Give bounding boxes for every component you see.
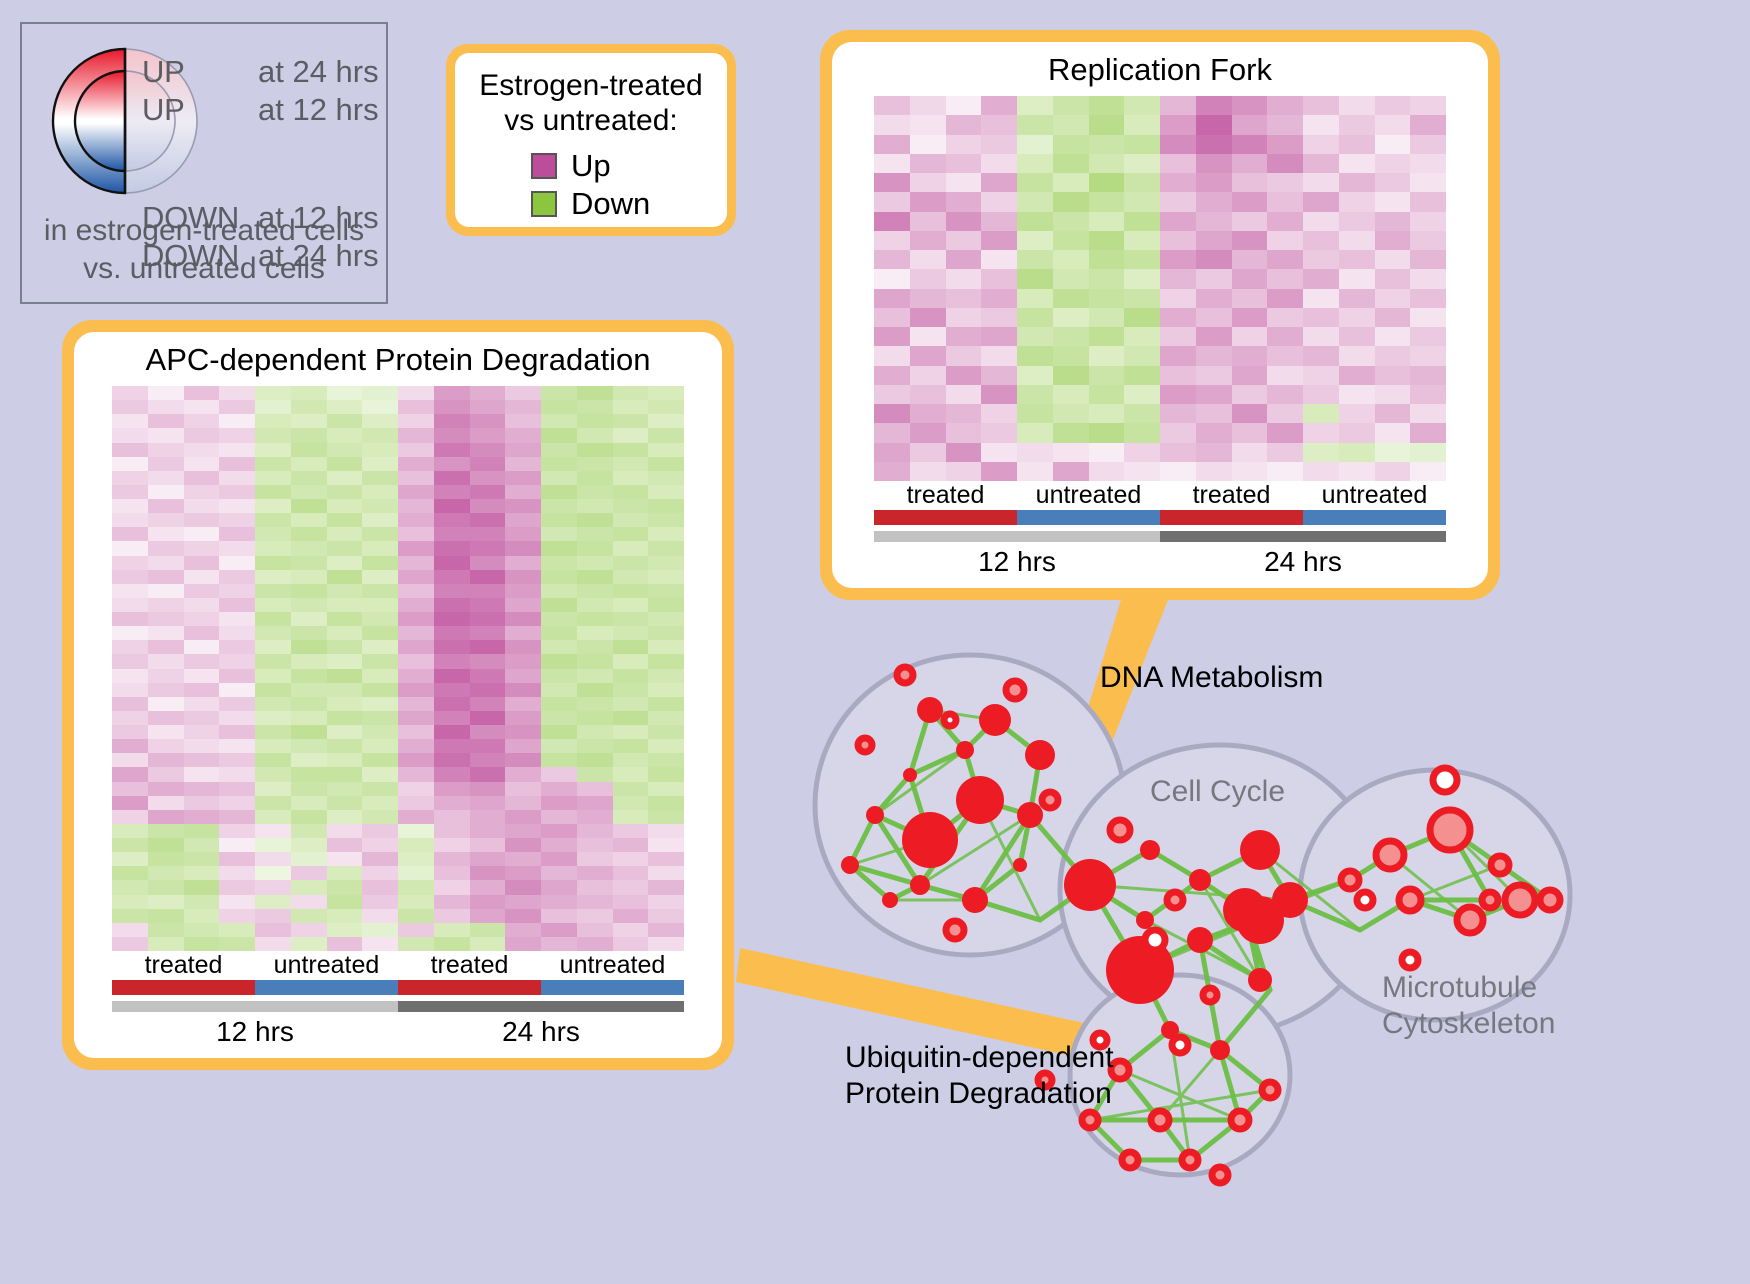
heatmap-cell bbox=[1232, 404, 1268, 423]
heatmap-cell bbox=[1375, 366, 1411, 385]
heatmap-cell bbox=[434, 414, 470, 428]
heatmap-cell bbox=[1410, 96, 1446, 115]
heatmap-cell bbox=[1089, 423, 1125, 442]
heatmap-cell bbox=[946, 404, 982, 423]
heatmap-cell bbox=[648, 428, 684, 442]
heatmap-cell bbox=[505, 753, 541, 767]
heatmap-cell bbox=[184, 683, 220, 697]
heatmap-cell bbox=[1232, 462, 1268, 481]
heatmap-cell bbox=[470, 895, 506, 909]
heatmap-cell bbox=[1232, 96, 1268, 115]
heatmap-cell bbox=[577, 541, 613, 555]
legend-title-line-1: Estrogen-treated bbox=[469, 69, 713, 104]
heatmap-cell bbox=[613, 767, 649, 781]
heatmap-cell bbox=[577, 443, 613, 457]
heatmap-cell bbox=[1053, 231, 1089, 250]
heatmap-cell bbox=[1160, 327, 1196, 346]
heatmap-cell bbox=[291, 937, 327, 951]
heatmap-cell bbox=[148, 810, 184, 824]
heatmap-cell bbox=[255, 570, 291, 584]
heatmap-cell bbox=[327, 443, 363, 457]
cluster-label-dna-metabolism: DNA Metabolism bbox=[1100, 660, 1323, 696]
heatmap-cell bbox=[1375, 154, 1411, 173]
group-color-bar-row bbox=[112, 980, 684, 995]
heatmap-cell bbox=[1267, 346, 1303, 365]
heatmap-cell bbox=[255, 485, 291, 499]
heatmap-cell bbox=[219, 640, 255, 654]
heatmap-cell bbox=[148, 669, 184, 683]
heatmap-cell bbox=[1160, 346, 1196, 365]
heatmap-cell bbox=[434, 782, 470, 796]
heatmap-cell bbox=[1089, 115, 1125, 134]
heatmap-cell bbox=[148, 570, 184, 584]
heatmap-cell bbox=[434, 556, 470, 570]
heatmap-cell bbox=[255, 654, 291, 668]
heatmap-cell bbox=[874, 327, 910, 346]
heatmap-cell bbox=[505, 428, 541, 442]
heatmap-cell bbox=[1089, 269, 1125, 288]
heatmap-cell bbox=[1124, 327, 1160, 346]
heatmap-cell bbox=[541, 598, 577, 612]
heatmap-cell bbox=[470, 824, 506, 838]
heatmap-cell bbox=[910, 366, 946, 385]
heatmap-cell bbox=[981, 385, 1017, 404]
heatmap-cell bbox=[613, 386, 649, 400]
heatmap-cell bbox=[874, 250, 910, 269]
heatmap-cell bbox=[219, 909, 255, 923]
key-direction-label: UP bbox=[142, 92, 258, 128]
heatmap-cell bbox=[255, 443, 291, 457]
heatmap-cell bbox=[291, 626, 327, 640]
heatmap-cell bbox=[613, 457, 649, 471]
heatmap-cell bbox=[1267, 212, 1303, 231]
heatmap-cell bbox=[1303, 404, 1339, 423]
heatmap-cell bbox=[1303, 269, 1339, 288]
heatmap-cell bbox=[327, 457, 363, 471]
heatmap-cell bbox=[470, 598, 506, 612]
heatmap-cell bbox=[291, 767, 327, 781]
heatmap-cell bbox=[1017, 250, 1053, 269]
heatmap-cell bbox=[362, 838, 398, 852]
heatmap-cell bbox=[219, 796, 255, 810]
heatmap-cell bbox=[470, 570, 506, 584]
heatmap-cell bbox=[648, 400, 684, 414]
heatmap-cell bbox=[874, 96, 910, 115]
key-time-label: at 24 hrs bbox=[258, 54, 379, 90]
heatmap-cell bbox=[255, 400, 291, 414]
heatmap-cell bbox=[541, 654, 577, 668]
heatmap-cell bbox=[327, 937, 363, 951]
heatmap-cell bbox=[1232, 250, 1268, 269]
color-key-row-up-12: UP at 12 hrs bbox=[142, 92, 379, 130]
heatmap-cell bbox=[577, 612, 613, 626]
heatmap-cell bbox=[398, 527, 434, 541]
heatmap-cell bbox=[1124, 346, 1160, 365]
heatmap-cell bbox=[291, 824, 327, 838]
heatmap-cell bbox=[1124, 250, 1160, 269]
heatmap-cell bbox=[434, 428, 470, 442]
heatmap-cell bbox=[219, 824, 255, 838]
heatmap-cell bbox=[148, 598, 184, 612]
heatmap-cell bbox=[434, 739, 470, 753]
heatmap-cell bbox=[946, 385, 982, 404]
heatmap-cell bbox=[910, 404, 946, 423]
heatmap-cell bbox=[362, 640, 398, 654]
heatmap-cell bbox=[112, 541, 148, 555]
heatmap-cell bbox=[1089, 173, 1125, 192]
heatmap-cell bbox=[981, 308, 1017, 327]
heatmap-cell bbox=[981, 462, 1017, 481]
heatmap-cell bbox=[291, 923, 327, 937]
heatmap-cell bbox=[1089, 289, 1125, 308]
heatmap-cell bbox=[577, 866, 613, 880]
heatmap-cell bbox=[148, 471, 184, 485]
heatmap-cell bbox=[291, 414, 327, 428]
heatmap-cell bbox=[1267, 231, 1303, 250]
heatmap-cell bbox=[291, 443, 327, 457]
heatmap-cell bbox=[291, 485, 327, 499]
heatmap-cell bbox=[184, 909, 220, 923]
heatmap-cell bbox=[1267, 96, 1303, 115]
heatmap-cell bbox=[874, 289, 910, 308]
heatmap-cell bbox=[184, 838, 220, 852]
heatmap-cell bbox=[1410, 366, 1446, 385]
heatmap-cell bbox=[577, 711, 613, 725]
heatmap-cell bbox=[184, 612, 220, 626]
heatmap-cell bbox=[1267, 289, 1303, 308]
heatmap-cell bbox=[1267, 115, 1303, 134]
cluster-label-line: Cytoskeleton bbox=[1382, 1006, 1555, 1042]
heatmap-cell bbox=[434, 697, 470, 711]
heatmap-cell bbox=[184, 725, 220, 739]
heatmap-cell bbox=[398, 640, 434, 654]
heatmap-cell bbox=[148, 880, 184, 894]
heatmap-cell bbox=[946, 231, 982, 250]
heatmap-cell bbox=[362, 414, 398, 428]
heatmap-cell bbox=[946, 346, 982, 365]
heatmap-cell bbox=[577, 895, 613, 909]
heatmap-cell bbox=[648, 654, 684, 668]
heatmap-cell bbox=[434, 541, 470, 555]
heatmap-cell bbox=[219, 400, 255, 414]
heatmap-cell bbox=[1232, 192, 1268, 211]
heatmap-cell bbox=[327, 683, 363, 697]
heatmap-cell bbox=[541, 457, 577, 471]
heatmap-cell bbox=[470, 739, 506, 753]
heatmap-cell bbox=[613, 669, 649, 683]
heatmap-cell bbox=[981, 115, 1017, 134]
heatmap-cell bbox=[219, 471, 255, 485]
heatmap-cell bbox=[362, 556, 398, 570]
heatmap-cell bbox=[1089, 154, 1125, 173]
heatmap-cell bbox=[874, 115, 910, 134]
heatmap-cell bbox=[112, 866, 148, 880]
heatmap-cell bbox=[613, 400, 649, 414]
heatmap-cell bbox=[1232, 135, 1268, 154]
heatmap-cell bbox=[648, 626, 684, 640]
heatmap-cell bbox=[648, 697, 684, 711]
heatmap-cell bbox=[1124, 423, 1160, 442]
heatmap-cell bbox=[148, 556, 184, 570]
time-color-bar-row bbox=[112, 995, 684, 1012]
heatmap-cell bbox=[112, 838, 148, 852]
color-key-box: UP at 24 hrs UP at 12 hrs DOWN at 12 hrs… bbox=[20, 22, 388, 304]
heatmap-cell bbox=[1124, 366, 1160, 385]
heatmap-cell bbox=[541, 541, 577, 555]
heatmap-cell bbox=[1053, 115, 1089, 134]
heatmap-cell bbox=[910, 423, 946, 442]
heatmap-cell bbox=[434, 711, 470, 725]
heatmap-cell bbox=[648, 810, 684, 824]
heatmap-cell bbox=[1232, 308, 1268, 327]
heatmap-cell bbox=[434, 683, 470, 697]
heatmap-cell bbox=[434, 499, 470, 513]
heatmap-cell bbox=[1196, 423, 1232, 442]
heatmap-cell bbox=[184, 499, 220, 513]
heatmap-cell bbox=[291, 810, 327, 824]
heatmap-cell bbox=[648, 725, 684, 739]
heatmap-cell bbox=[1410, 327, 1446, 346]
heatmap-cell bbox=[1375, 96, 1411, 115]
heatmap-cell bbox=[1232, 346, 1268, 365]
heatmap-cell bbox=[981, 269, 1017, 288]
heatmap-cell bbox=[362, 895, 398, 909]
heatmap-cell bbox=[1303, 385, 1339, 404]
heatmap-cell bbox=[505, 556, 541, 570]
heatmap-cell bbox=[1267, 173, 1303, 192]
heatmap-cell bbox=[112, 880, 148, 894]
heatmap-cell bbox=[910, 173, 946, 192]
heatmap-cell bbox=[398, 400, 434, 414]
heatmap-cell bbox=[398, 739, 434, 753]
heatmap-cell bbox=[505, 457, 541, 471]
heatmap-cell bbox=[541, 414, 577, 428]
heatmap-cell bbox=[148, 697, 184, 711]
heatmap-cell bbox=[470, 556, 506, 570]
heatmap-cell bbox=[1160, 212, 1196, 231]
heatmap-cell bbox=[1160, 96, 1196, 115]
heatmap-cell bbox=[398, 584, 434, 598]
heatmap-cell bbox=[255, 767, 291, 781]
heatmap-cell bbox=[255, 937, 291, 951]
heatmap-cell bbox=[327, 499, 363, 513]
heatmap-cell bbox=[219, 584, 255, 598]
heatmap-cell bbox=[648, 866, 684, 880]
heatmap-cell bbox=[505, 654, 541, 668]
heatmap-cell bbox=[434, 895, 470, 909]
heatmap-cell bbox=[613, 556, 649, 570]
heatmap-cell bbox=[434, 386, 470, 400]
heatmap-cell bbox=[874, 423, 910, 442]
heatmap-cell bbox=[541, 443, 577, 457]
heatmap-cell bbox=[184, 866, 220, 880]
heatmap-cell bbox=[255, 838, 291, 852]
heatmap-cell bbox=[112, 909, 148, 923]
heatmap-cell bbox=[1267, 404, 1303, 423]
heatmap-cell bbox=[327, 697, 363, 711]
heatmap-cell bbox=[398, 443, 434, 457]
heatmap-cell bbox=[255, 782, 291, 796]
heatmap-cell bbox=[1053, 327, 1089, 346]
heatmap-cell bbox=[577, 838, 613, 852]
heatmap-cell bbox=[327, 909, 363, 923]
heatmap-cell bbox=[1196, 192, 1232, 211]
heatmap-cell bbox=[1303, 462, 1339, 481]
heatmap-cell bbox=[1375, 462, 1411, 481]
heatmap-cell bbox=[541, 782, 577, 796]
heatmap-cell bbox=[981, 192, 1017, 211]
heatmap-cell bbox=[648, 598, 684, 612]
heatmap-cell bbox=[148, 513, 184, 527]
heatmap-cell bbox=[1232, 385, 1268, 404]
heatmap-cell bbox=[398, 753, 434, 767]
heatmap-cell bbox=[398, 513, 434, 527]
heatmap-cell bbox=[648, 443, 684, 457]
heatmap-cell bbox=[219, 923, 255, 937]
heatmap-cell bbox=[255, 824, 291, 838]
heatmap-cell bbox=[577, 598, 613, 612]
heatmap-cell bbox=[184, 852, 220, 866]
cluster-label-cell-cycle: Cell Cycle bbox=[1150, 774, 1285, 810]
heatmap-cell bbox=[470, 753, 506, 767]
heatmap-cell bbox=[291, 895, 327, 909]
heatmap-cell bbox=[1089, 327, 1125, 346]
heatmap-cell bbox=[327, 626, 363, 640]
heatmap-cell bbox=[505, 669, 541, 683]
heatmap-cell bbox=[470, 697, 506, 711]
heatmap-cell bbox=[362, 527, 398, 541]
heatmap-cell bbox=[398, 810, 434, 824]
heatmap-cell bbox=[1375, 423, 1411, 442]
heatmap-cell bbox=[946, 366, 982, 385]
heatmap-cell bbox=[434, 810, 470, 824]
heatmap-cell bbox=[470, 541, 506, 555]
heatmap-cell bbox=[470, 810, 506, 824]
heatmap-cell bbox=[577, 485, 613, 499]
heatmap-cell bbox=[541, 824, 577, 838]
heatmap-cell bbox=[1339, 115, 1375, 134]
heatmap-cell bbox=[1124, 135, 1160, 154]
heatmap-cell bbox=[184, 753, 220, 767]
heatmap-cell bbox=[184, 386, 220, 400]
heatmap-cell bbox=[1017, 212, 1053, 231]
heatmap-cell bbox=[505, 598, 541, 612]
group-label: untreated bbox=[541, 951, 684, 980]
heatmap-cell bbox=[112, 556, 148, 570]
heatmap-cell bbox=[648, 923, 684, 937]
heatmap-cell bbox=[219, 485, 255, 499]
heatmap-cell bbox=[398, 541, 434, 555]
heatmap-cell bbox=[184, 711, 220, 725]
heatmap-cell bbox=[255, 428, 291, 442]
heatmap-cell bbox=[362, 739, 398, 753]
heatmap-cell bbox=[327, 386, 363, 400]
time-color-bar bbox=[1160, 531, 1446, 542]
heatmap-cell bbox=[398, 895, 434, 909]
heatmap-cell bbox=[184, 796, 220, 810]
heatmap-cell bbox=[1375, 404, 1411, 423]
heatmap-cell bbox=[505, 640, 541, 654]
key-footer-line-2: vs. untreated cells bbox=[22, 250, 386, 288]
legend-label-down: Down bbox=[571, 186, 650, 222]
heatmap-cell bbox=[255, 556, 291, 570]
heatmap-cell bbox=[1160, 443, 1196, 462]
heatmap-cell bbox=[255, 923, 291, 937]
heatmap-cell bbox=[1017, 135, 1053, 154]
heatmap-cell bbox=[398, 471, 434, 485]
heatmap-cell bbox=[1053, 308, 1089, 327]
heatmap-cell bbox=[112, 584, 148, 598]
heatmap-cell bbox=[219, 570, 255, 584]
heatmap-cell bbox=[1053, 269, 1089, 288]
cluster-label-line: Protein Degradation bbox=[845, 1076, 1114, 1112]
heatmap-cell bbox=[1410, 346, 1446, 365]
heatmap-cell bbox=[291, 541, 327, 555]
heatmap-cell bbox=[398, 767, 434, 781]
heatmap-cell bbox=[362, 810, 398, 824]
heatmap-cell bbox=[577, 824, 613, 838]
heatmap-cell bbox=[362, 852, 398, 866]
heatmap-cell bbox=[470, 626, 506, 640]
heatmap-cell bbox=[470, 852, 506, 866]
heatmap-cell bbox=[112, 428, 148, 442]
heatmap-cell bbox=[219, 767, 255, 781]
time-label-row: 12 hrs24 hrs bbox=[112, 1016, 684, 1048]
heatmap-cell bbox=[255, 909, 291, 923]
heatmap-cell bbox=[362, 443, 398, 457]
heatmap-cell bbox=[981, 404, 1017, 423]
heatmap-cell bbox=[1339, 366, 1375, 385]
heatmap-cell bbox=[112, 810, 148, 824]
heatmap-cell bbox=[148, 923, 184, 937]
heatmap-cell bbox=[1053, 154, 1089, 173]
heatmap-cell bbox=[1053, 135, 1089, 154]
heatmap-cell bbox=[112, 400, 148, 414]
heatmap-cell bbox=[1303, 327, 1339, 346]
heatmap-cell bbox=[505, 923, 541, 937]
heatmap-cell bbox=[291, 782, 327, 796]
heatmap-cell bbox=[648, 527, 684, 541]
heatmap-cell bbox=[470, 485, 506, 499]
heatmap-cell bbox=[148, 683, 184, 697]
heatmap-cell bbox=[1232, 231, 1268, 250]
heatmap-cell bbox=[470, 612, 506, 626]
heatmap-cell bbox=[255, 753, 291, 767]
heatmap-cell bbox=[1196, 269, 1232, 288]
heatmap-cell bbox=[577, 471, 613, 485]
network-graph bbox=[790, 600, 1750, 1279]
heatmap-cell bbox=[946, 462, 982, 481]
legend-title: Estrogen-treated vs untreated: bbox=[469, 69, 713, 139]
heatmap-cell bbox=[1375, 269, 1411, 288]
heatmap-cell bbox=[613, 725, 649, 739]
heatmap-cell bbox=[1232, 423, 1268, 442]
heatmap-cell bbox=[1375, 308, 1411, 327]
heatmap-cell bbox=[577, 414, 613, 428]
heatmap-cell bbox=[1303, 135, 1339, 154]
heatmap-cell bbox=[184, 782, 220, 796]
heatmap-cell bbox=[291, 400, 327, 414]
heatmap-cell bbox=[613, 782, 649, 796]
heatmap-cell bbox=[362, 683, 398, 697]
time-label: 24 hrs bbox=[1160, 546, 1446, 578]
heatmap-cell bbox=[946, 173, 982, 192]
heatmap-cell bbox=[148, 767, 184, 781]
heatmap-cell bbox=[505, 739, 541, 753]
heatmap-cell bbox=[1410, 404, 1446, 423]
heatmap-cell bbox=[1017, 366, 1053, 385]
heatmap-cell bbox=[255, 414, 291, 428]
